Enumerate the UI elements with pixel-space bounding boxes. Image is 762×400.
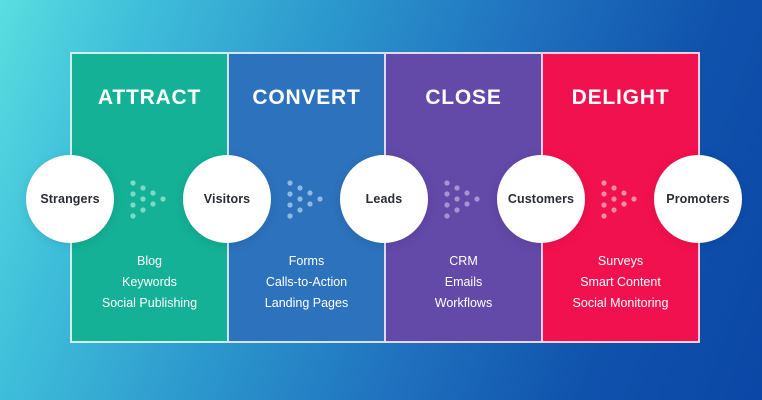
node-label: Customers (508, 192, 574, 206)
funnel-diagram: ATTRACT Blog Keywords Social Publishing … (0, 0, 762, 400)
node-promoters[interactable]: Promoters (654, 155, 742, 243)
arrow-visitors-to-leads-icon (286, 177, 330, 223)
stage-item: Forms (229, 251, 384, 272)
stage-items-attract: Blog Keywords Social Publishing (72, 251, 227, 314)
node-label: Leads (366, 192, 403, 206)
stage-title-convert: CONVERT (252, 87, 360, 108)
stage-item: Emails (386, 272, 541, 293)
stage-items-convert: Forms Calls-to-Action Landing Pages (229, 251, 384, 314)
arrow-customers-to-promoters-icon (600, 177, 644, 223)
stage-items-close: CRM Emails Workflows (386, 251, 541, 314)
node-visitors[interactable]: Visitors (183, 155, 271, 243)
arrow-strangers-to-visitors-icon (129, 177, 173, 223)
node-label: Strangers (40, 192, 99, 206)
stage-items-delight: Surveys Smart Content Social Monitoring (543, 251, 698, 314)
stage-item: CRM (386, 251, 541, 272)
node-leads[interactable]: Leads (340, 155, 428, 243)
node-label: Visitors (204, 192, 250, 206)
stage-item: Calls-to-Action (229, 272, 384, 293)
node-customers[interactable]: Customers (497, 155, 585, 243)
stage-item: Smart Content (543, 272, 698, 293)
stage-item: Social Monitoring (543, 293, 698, 314)
stage-title-delight: DELIGHT (572, 87, 670, 108)
stage-title-close: CLOSE (425, 87, 501, 108)
stage-item: Workflows (386, 293, 541, 314)
stage-item: Social Publishing (72, 293, 227, 314)
stage-item: Surveys (543, 251, 698, 272)
node-label: Promoters (666, 192, 729, 206)
stage-title-attract: ATTRACT (98, 87, 201, 108)
stage-item: Keywords (72, 272, 227, 293)
node-strangers[interactable]: Strangers (26, 155, 114, 243)
stage-item: Landing Pages (229, 293, 384, 314)
arrow-leads-to-customers-icon (443, 177, 487, 223)
stage-item: Blog (72, 251, 227, 272)
